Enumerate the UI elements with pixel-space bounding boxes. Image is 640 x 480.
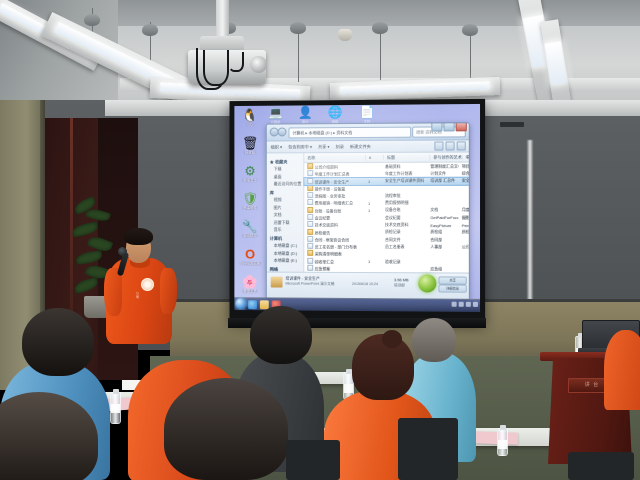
- file-type-icon: [307, 229, 313, 235]
- cell-number: 1: [365, 201, 382, 206]
- table-row[interactable]: 培训课件 - 安全生产1安全生产培训课件资料培训部 汇总件安全生产培训资料: [304, 177, 470, 185]
- nav-item-drive-c[interactable]: 本地磁盘 (C:): [274, 243, 302, 249]
- minimize-button[interactable]: [431, 122, 442, 131]
- desktop-icon-antivirus[interactable]: 🛡 杀毒软件: [236, 191, 263, 217]
- cell-number: 1: [365, 179, 382, 184]
- nav-item-recent[interactable]: 最近访问的位置: [274, 181, 302, 187]
- computer-icon: 💻: [264, 107, 288, 120]
- wrench-icon: 🔧: [236, 219, 263, 234]
- status-author: 培训部: [394, 283, 405, 288]
- attendee-head: [250, 306, 312, 364]
- nav-item-drive-e[interactable]: 本地磁盘 (E:): [274, 258, 302, 264]
- bottle-label: [344, 384, 353, 393]
- cell-title: 设备台账: [382, 207, 427, 213]
- tray-icon[interactable]: [459, 302, 464, 307]
- explorer-title-bar[interactable]: 计算机 ▸ 本地磁盘 (D:) ▸ 资料文档 搜索 资料文档: [267, 123, 469, 141]
- conference-room-scene: 🐧 QQ 🗑 回收站 ⚙ 安全卫士 🛡 杀毒软件 🔧 驱动精灵: [0, 0, 640, 480]
- projector-cable: [228, 52, 244, 72]
- table-row[interactable]: 流程图 - 业务审批流程审批: [304, 192, 470, 200]
- fluorescent-tube: [160, 83, 301, 99]
- cell-album: 公司组织架构资料: [459, 244, 470, 250]
- document-icon: 📄: [355, 106, 379, 119]
- view-controls[interactable]: [434, 141, 465, 150]
- status-modified-date: 2015/6/18 10:24: [352, 282, 378, 286]
- light-hanger-cone: [462, 24, 478, 36]
- cell-title: 流程审批: [382, 193, 427, 199]
- desktop-icon-network[interactable]: 🌐 网络: [323, 106, 347, 124]
- file-type-icon: [307, 265, 313, 271]
- opera-icon: O: [236, 247, 263, 262]
- file-type-icon: [307, 214, 313, 220]
- recycle-bin-icon: 🗑: [236, 136, 263, 151]
- bottle-label: [498, 440, 507, 449]
- light-hanger-cone: [372, 22, 388, 34]
- desktop-icon-recycle-bin[interactable]: 🗑 回收站: [236, 136, 263, 162]
- cell-album: 安全生产培训资料: [459, 178, 470, 184]
- column-header-name[interactable]: 名称: [304, 154, 366, 160]
- status-item-type: Microsoft PowerPoint 演示文稿: [286, 282, 335, 287]
- cell-title: 技术交底资料: [382, 222, 427, 228]
- desktop-icon-computer[interactable]: 💻 计算机: [264, 107, 288, 125]
- ceiling: [0, 0, 640, 108]
- cell-artist: 文档: [427, 207, 458, 213]
- nav-item-documents[interactable]: 文档: [274, 212, 302, 218]
- desktop-icon-qq-messenger[interactable]: 🐧 QQ: [236, 108, 263, 134]
- file-type-icon: [307, 170, 313, 176]
- cell-artist: 管理制度汇总文档: [427, 163, 458, 169]
- file-list-pane[interactable]: 名称 # 标题 参与创作的艺术家 唱片集 公司介绍资料基础资料管理制度汇总文档项…: [304, 152, 470, 286]
- explorer-status-bar: 培训课件 - 安全生产 Microsoft PowerPoint 演示文稿 20…: [267, 272, 469, 299]
- cell-album: 摄影图 Plus Image: [459, 215, 470, 221]
- desktop-icon-row: 💻 计算机 👤 用户 🌐 网络 📄 文档: [264, 106, 383, 125]
- light-hanger-cone: [290, 22, 306, 34]
- preview-pane-icon[interactable]: [445, 141, 454, 150]
- file-rows-container: 公司介绍资料基础资料管理制度汇总文档项目资料年度工作计划汇总表年度工作计划表计划…: [304, 162, 470, 273]
- cell-artist: EasyPicture: [427, 223, 458, 228]
- nav-item-music[interactable]: 音乐: [274, 227, 302, 233]
- new-folder-button[interactable]: 新建文件夹: [350, 143, 371, 149]
- desktop-icon-security-guard[interactable]: ⚙ 安全卫士: [236, 163, 263, 189]
- file-type-icon: [307, 250, 313, 256]
- forward-button[interactable]: [278, 127, 287, 136]
- desktop-icon-column: 🐧 QQ 🗑 回收站 ⚙ 安全卫士 🛡 杀毒软件 🔧 驱动精灵: [236, 108, 263, 312]
- tray-icon[interactable]: [473, 302, 478, 307]
- file-type-icon: [307, 236, 313, 242]
- microphone-head: [118, 247, 127, 256]
- cell-title: 费用报销明细: [382, 200, 427, 206]
- cell-artist: 人事部: [427, 244, 458, 250]
- windows-explorer-icon[interactable]: [260, 300, 269, 309]
- projection-screen-frame: 🐧 QQ 🗑 回收站 ⚙ 安全卫士 🛡 杀毒软件 🔧 驱动精灵: [229, 99, 485, 323]
- cell-album: 月度报表汇总: [459, 207, 470, 213]
- bottle-cap: [500, 425, 506, 430]
- cell-artist: 培训部 汇总件: [427, 178, 458, 184]
- plant-leaf: [73, 277, 99, 294]
- explorer-body: ★ 收藏夹 下载 桌面 最近访问的位置 库 视频 图片 文档 迅雷下载 音乐 计…: [267, 152, 469, 286]
- bottle-cap: [346, 369, 352, 374]
- nav-group-favorites[interactable]: ★ 收藏夹: [270, 159, 302, 165]
- nav-item-desktop[interactable]: 桌面: [274, 174, 302, 180]
- desktop-icon-user-folder[interactable]: 👤 用户: [293, 106, 317, 124]
- internet-explorer-icon[interactable]: [248, 300, 257, 309]
- chair-back: [568, 452, 634, 480]
- desktop-icon-opera-browser[interactable]: O Opera浏览器: [236, 247, 263, 273]
- tray-icon[interactable]: [466, 302, 471, 307]
- chair-back: [286, 440, 340, 480]
- attendee-head: [412, 318, 456, 362]
- bottle-label: [111, 404, 120, 413]
- chair-back: [398, 418, 458, 480]
- windows-explorer-window[interactable]: 计算机 ▸ 本地磁盘 (D:) ▸ 资料文档 搜索 资料文档 组织 ▾ 包含到库…: [266, 122, 470, 300]
- network-icon: 🌐: [323, 106, 347, 119]
- projector-cable: [203, 50, 229, 86]
- file-type-icon: [307, 192, 313, 198]
- column-header-row[interactable]: 名称 # 标题 参与创作的艺术家 唱片集: [304, 152, 470, 163]
- table-row[interactable]: 费用报销 - 明细表汇总1费用报销明细: [304, 199, 470, 206]
- nav-item-thunder-downloads[interactable]: 迅雷下载: [274, 219, 302, 225]
- status-size-label: 3.56 MB: [394, 277, 409, 282]
- column-header-title[interactable]: 标题: [384, 154, 430, 160]
- cell-title: 验收记录: [382, 259, 427, 265]
- cell-title: 员工名册表: [382, 244, 427, 250]
- bottle-cap: [113, 389, 119, 394]
- file-type-icon: [307, 258, 313, 264]
- light-hanger-cone: [84, 14, 100, 26]
- projection-screen-surface[interactable]: 🐧 QQ 🗑 回收站 ⚙ 安全卫士 🛡 杀毒软件 🔧 驱动精灵: [234, 104, 480, 312]
- cell-artist: 应急组: [427, 266, 458, 272]
- cell-album: Primetime Security: [459, 223, 470, 228]
- shield-icon: 🛡: [236, 191, 263, 206]
- status-badge-share[interactable]: 共享: [438, 276, 466, 284]
- help-icon[interactable]: [457, 141, 466, 150]
- water-bottle: [110, 392, 121, 424]
- file-type-icon: [307, 221, 313, 227]
- explorer-toolbar[interactable]: 组织 ▾ 包含到库中 ▾ 共享 ▾ 刻录 新建文件夹: [267, 140, 469, 153]
- plant-leaf: [71, 221, 99, 237]
- organize-menu[interactable]: 组织 ▾: [271, 144, 282, 150]
- nav-item-downloads[interactable]: 下载: [274, 166, 302, 172]
- close-button[interactable]: [456, 122, 467, 131]
- water-bottle: [497, 428, 508, 456]
- cell-number: 1: [365, 208, 382, 213]
- cell-artist: GetPaidForFocus: [427, 215, 458, 220]
- cell-album: 项目资料: [459, 163, 470, 169]
- attendee-head: [22, 308, 94, 376]
- handout-paper: [474, 431, 518, 445]
- user-icon: 👤: [293, 106, 317, 119]
- smoke-detector: [338, 29, 352, 41]
- plant-leaf: [75, 250, 102, 265]
- file-type-icon: [307, 243, 313, 249]
- file-type-icon: [307, 163, 313, 169]
- projector-lens: [250, 56, 267, 73]
- navigation-buttons[interactable]: [270, 127, 286, 136]
- nav-item-pictures[interactable]: 图片: [274, 205, 302, 211]
- cell-title: 年度工作计划表: [382, 171, 427, 177]
- wall-vent: [500, 122, 524, 127]
- flower-icon: 🌸: [236, 274, 263, 289]
- share-menu[interactable]: 共享 ▾: [318, 144, 330, 150]
- plant-leaf: [85, 207, 111, 223]
- burn-button[interactable]: 刻录: [336, 144, 344, 150]
- tray-icon[interactable]: [452, 302, 457, 307]
- view-mode-icon[interactable]: [434, 142, 443, 151]
- presenter-right-arm: [160, 268, 177, 314]
- shirt-logo-text: 公司: [136, 291, 139, 299]
- system-tray[interactable]: [452, 302, 478, 307]
- shirt-logo: [141, 278, 154, 291]
- cell-number: 1: [365, 259, 382, 264]
- nav-item-videos[interactable]: 视频: [274, 197, 302, 203]
- desktop-icon-document[interactable]: 📄 文档: [355, 106, 379, 124]
- file-type-icon: [307, 207, 313, 213]
- maximize-button[interactable]: [443, 122, 454, 131]
- light-hanger-rod: [298, 28, 299, 82]
- file-type-icon: [307, 178, 313, 184]
- cell-title: 质检记录: [382, 229, 427, 235]
- table-row[interactable]: 公司介绍资料基础资料管理制度汇总文档项目资料: [304, 162, 470, 170]
- column-header-number[interactable]: #: [366, 155, 384, 160]
- nav-item-drive-d[interactable]: 本地磁盘 (D:): [274, 250, 302, 256]
- status-orb-icon: [418, 274, 436, 292]
- light-hanger-rod: [380, 28, 381, 80]
- include-in-library-menu[interactable]: 包含到库中 ▾: [288, 144, 312, 150]
- nav-group-computer[interactable]: 计算机: [270, 236, 302, 242]
- status-badge-details[interactable]: 详细信息: [438, 284, 466, 292]
- cell-artist: 合同部: [427, 237, 458, 243]
- window-controls[interactable]: [431, 122, 466, 131]
- navigation-pane[interactable]: ★ 收藏夹 下载 桌面 最近访问的位置 库 视频 图片 文档 迅雷下载 音乐 计…: [267, 153, 305, 285]
- attendee-head: [164, 378, 288, 480]
- gear-icon: ⚙: [236, 163, 263, 178]
- fluorescent-tube: [340, 81, 490, 94]
- cell-artist: 质检组: [427, 229, 458, 235]
- presenter-hair: [124, 228, 153, 245]
- cell-title: 合同文件: [382, 237, 427, 243]
- start-button-icon[interactable]: [235, 298, 246, 309]
- file-preview-icon: [271, 277, 283, 288]
- light-hanger-cone: [142, 24, 158, 36]
- file-type-icon: [307, 199, 313, 205]
- qq-messenger-icon: 🐧: [236, 108, 263, 123]
- desktop-icon-driver-tool[interactable]: 🔧 驱动精灵: [236, 219, 263, 245]
- table-row[interactable]: 年度工作计划汇总表年度工作计划表计划文件综合管理: [304, 170, 470, 178]
- file-type-icon: [307, 185, 313, 191]
- cell-title: 安全生产培训课件资料: [382, 178, 427, 184]
- column-header-artist[interactable]: 参与创作的艺术家: [430, 154, 462, 160]
- nav-group-libraries[interactable]: 库: [270, 190, 302, 196]
- cell-title: 会议纪要: [382, 215, 427, 221]
- address-bar[interactable]: 计算机 ▸ 本地磁盘 (D:) ▸ 资料文档: [288, 127, 411, 139]
- column-header-album[interactable]: 唱片集: [463, 154, 470, 160]
- cell-album: 综合管理: [459, 170, 470, 176]
- cell-album: 质检资料: [459, 229, 470, 235]
- cell-artist: 计划文件: [427, 171, 458, 177]
- attendee-ponytail: [382, 330, 402, 348]
- attendee-torso: [604, 330, 640, 410]
- cell-title: 基础资料: [382, 163, 427, 169]
